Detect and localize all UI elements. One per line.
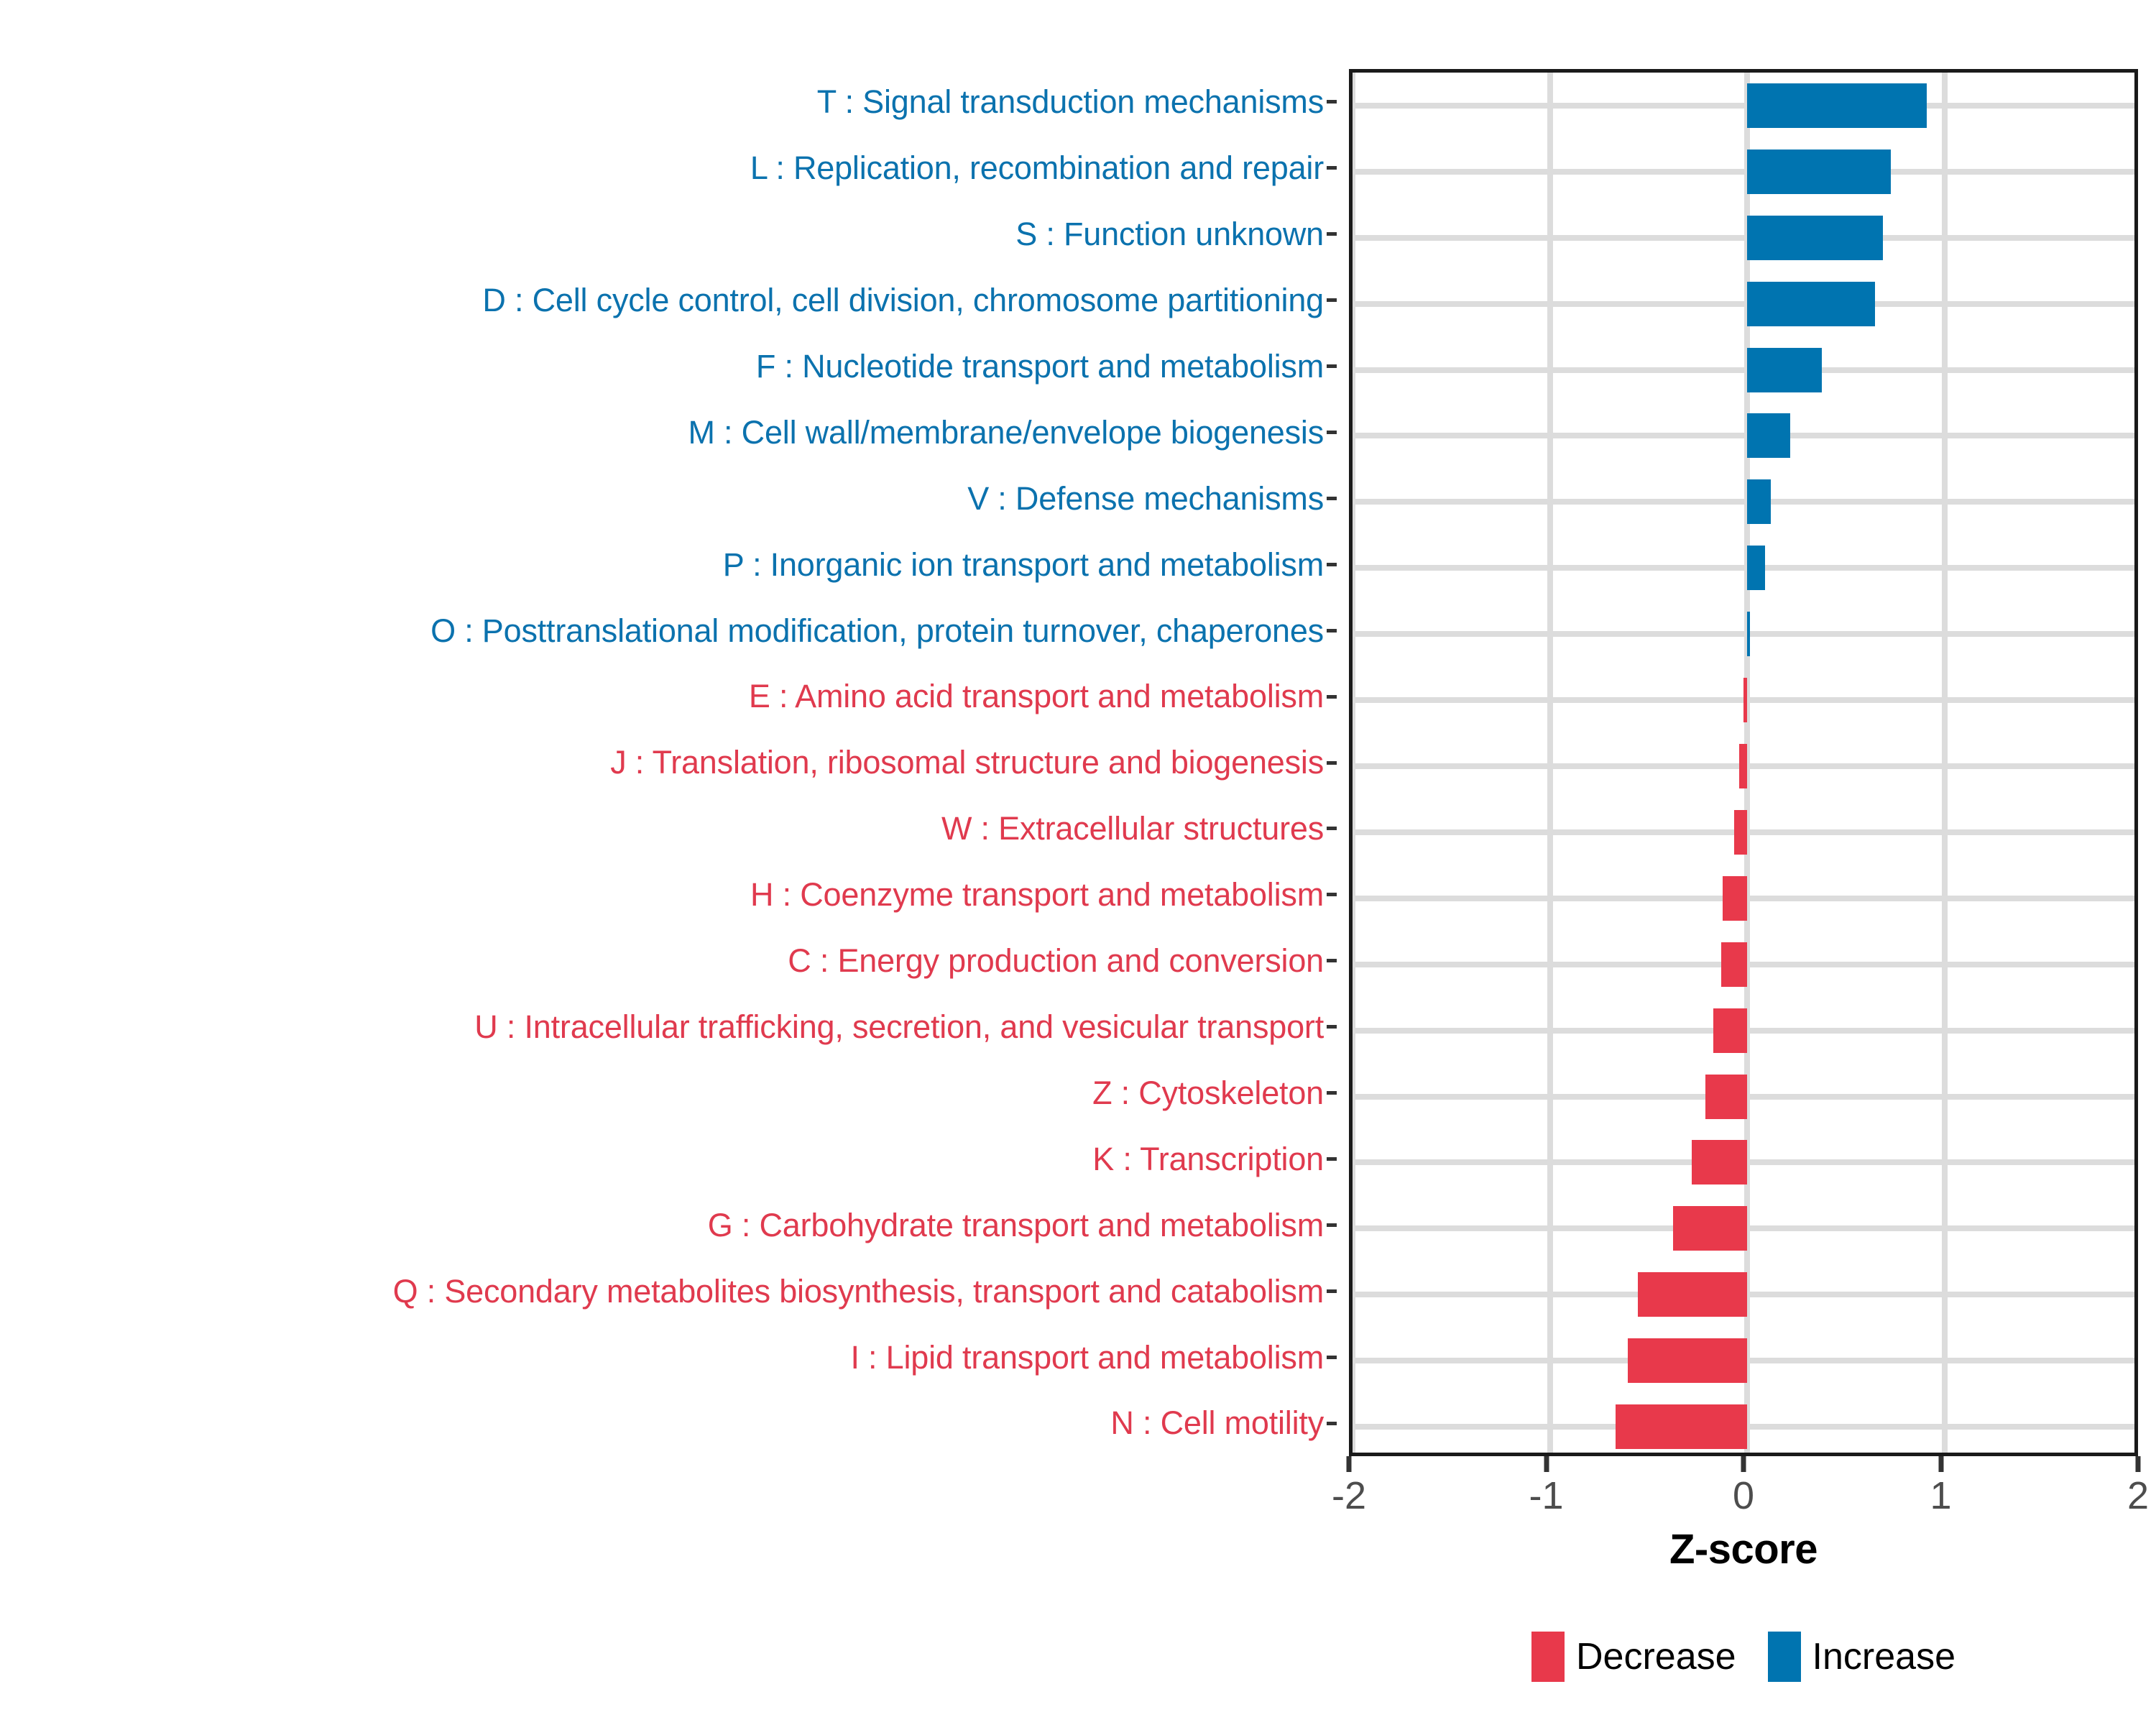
horizontal-gridline <box>1353 103 2134 109</box>
bar-increase <box>1747 282 1875 326</box>
category-label-row: S : Function unknown <box>0 201 1337 267</box>
legend-swatch-decrease <box>1531 1632 1565 1682</box>
horizontal-gridline <box>1353 499 2134 505</box>
category-tick-mark <box>1327 166 1337 170</box>
category-label: Q : Secondary metabolites biosynthesis, … <box>393 1274 1324 1308</box>
x-axis-tick-label: -1 <box>1529 1473 1563 1518</box>
category-label: T : Signal transduction mechanisms <box>817 85 1324 119</box>
horizontal-gridline <box>1353 235 2134 241</box>
category-label-row: H : Coenzyme transport and metabolism <box>0 862 1337 928</box>
category-label: D : Cell cycle control, cell division, c… <box>482 283 1324 317</box>
category-label: K : Transcription <box>1092 1142 1324 1176</box>
legend-label: Decrease <box>1576 1635 1736 1678</box>
category-label-row: T : Signal transduction mechanisms <box>0 69 1337 135</box>
category-tick-mark <box>1327 1356 1337 1359</box>
legend-entry[interactable]: Decrease <box>1531 1632 1736 1682</box>
x-axis-tick-mark <box>2136 1456 2141 1472</box>
bar-decrease <box>1723 876 1747 921</box>
category-tick-mark <box>1327 100 1337 103</box>
legend-swatch-increase <box>1768 1632 1801 1682</box>
bar-increase <box>1747 546 1765 590</box>
category-label: O : Posttranslational modification, prot… <box>430 614 1324 648</box>
category-label: P : Inorganic ion transport and metaboli… <box>723 548 1324 581</box>
category-tick-mark <box>1327 827 1337 830</box>
category-tick-mark <box>1327 1091 1337 1095</box>
bar-decrease <box>1616 1404 1747 1449</box>
category-label: Z : Cytoskeleton <box>1092 1076 1324 1110</box>
category-label-row: L : Replication, recombination and repai… <box>0 135 1337 201</box>
category-label-row: O : Posttranslational modification, prot… <box>0 597 1337 663</box>
x-axis-tick-label: 1 <box>1930 1473 1951 1518</box>
category-tick-mark <box>1327 761 1337 765</box>
category-label-row: V : Defense mechanisms <box>0 465 1337 531</box>
category-label: S : Function unknown <box>1015 217 1324 251</box>
bar-decrease <box>1638 1272 1747 1317</box>
category-label: H : Coenzyme transport and metabolism <box>750 878 1324 911</box>
bar-decrease <box>1692 1140 1747 1184</box>
category-label-row: G : Carbohydrate transport and metabolis… <box>0 1192 1337 1258</box>
category-label-row: I : Lipid transport and metabolism <box>0 1324 1337 1390</box>
bar-decrease <box>1739 744 1747 788</box>
bar-decrease <box>1713 1008 1747 1053</box>
category-label-row: E : Amino acid transport and metabolism <box>0 663 1337 730</box>
category-label: N : Cell motility <box>1110 1406 1324 1440</box>
legend: DecreaseIncrease <box>1349 1632 2138 1682</box>
x-axis-tick-mark <box>1741 1456 1746 1472</box>
horizontal-gridline <box>1353 169 2134 175</box>
category-tick-mark <box>1327 893 1337 896</box>
plot-panel <box>1349 69 2138 1456</box>
horizontal-gridline <box>1353 565 2134 571</box>
category-label-row: P : Inorganic ion transport and metaboli… <box>0 531 1337 597</box>
category-label-row: M : Cell wall/membrane/envelope biogenes… <box>0 400 1337 466</box>
category-tick-mark <box>1327 1157 1337 1161</box>
category-tick-mark <box>1327 1223 1337 1227</box>
vertical-gridline <box>1350 73 1355 1453</box>
bar-increase <box>1747 348 1822 392</box>
category-label: L : Replication, recombination and repai… <box>750 151 1324 185</box>
category-label: W : Extracellular structures <box>941 811 1324 845</box>
category-label: J : Translation, ribosomal structure and… <box>610 745 1324 779</box>
cog-z-score-bar-chart: T : Signal transduction mechanismsL : Re… <box>0 0 2156 1725</box>
category-label-row: K : Transcription <box>0 1126 1337 1192</box>
category-tick-mark <box>1327 1289 1337 1293</box>
category-label: G : Carbohydrate transport and metabolis… <box>708 1208 1324 1242</box>
category-label-row: C : Energy production and conversion <box>0 928 1337 994</box>
horizontal-gridline <box>1353 433 2134 438</box>
x-axis-tick-labels: -2-1012 <box>1349 1473 2138 1524</box>
x-axis-tick-mark <box>1938 1456 1943 1472</box>
bar-decrease <box>1721 942 1747 987</box>
horizontal-gridline <box>1353 367 2134 373</box>
vertical-gridline <box>1942 73 1948 1453</box>
category-label-row: Q : Secondary metabolites biosynthesis, … <box>0 1258 1337 1324</box>
category-tick-mark <box>1327 298 1337 302</box>
category-label-row: Z : Cytoskeleton <box>0 1060 1337 1126</box>
category-label: F : Nucleotide transport and metabolism <box>756 349 1324 383</box>
x-axis-tick-label: -2 <box>1332 1473 1366 1518</box>
bar-increase <box>1747 612 1750 656</box>
category-axis-labels: T : Signal transduction mechanismsL : Re… <box>0 69 1337 1456</box>
category-label-row: J : Translation, ribosomal structure and… <box>0 730 1337 796</box>
x-axis-tick-label: 2 <box>2127 1473 2149 1518</box>
bar-increase <box>1747 83 1927 128</box>
horizontal-gridline <box>1353 301 2134 307</box>
bar-decrease <box>1628 1338 1747 1383</box>
category-tick-mark <box>1327 695 1337 699</box>
bar-increase <box>1747 149 1891 194</box>
category-tick-mark <box>1327 364 1337 368</box>
bar-increase <box>1747 216 1883 260</box>
vertical-gridline <box>1547 73 1553 1453</box>
category-tick-mark <box>1327 629 1337 632</box>
legend-entry[interactable]: Increase <box>1768 1632 1955 1682</box>
category-tick-mark <box>1327 959 1337 962</box>
bar-decrease <box>1705 1075 1747 1119</box>
x-axis-tick-marks <box>1349 1456 2138 1473</box>
category-label: I : Lipid transport and metabolism <box>850 1340 1324 1374</box>
bar-decrease <box>1743 678 1747 722</box>
x-axis-tick-mark <box>1544 1456 1549 1472</box>
category-label: U : Intracellular trafficking, secretion… <box>474 1010 1324 1044</box>
category-tick-mark <box>1327 1422 1337 1425</box>
category-tick-mark <box>1327 1025 1337 1029</box>
bar-decrease <box>1673 1206 1747 1251</box>
legend-label: Increase <box>1812 1635 1955 1678</box>
x-axis-tick-mark <box>1347 1456 1352 1472</box>
x-axis-tick-label: 0 <box>1733 1473 1754 1518</box>
category-tick-mark <box>1327 497 1337 500</box>
category-label-row: F : Nucleotide transport and metabolism <box>0 333 1337 400</box>
category-tick-mark <box>1327 431 1337 434</box>
bar-increase <box>1747 413 1790 458</box>
category-label-row: W : Extracellular structures <box>0 796 1337 862</box>
category-label-row: N : Cell motility <box>0 1390 1337 1456</box>
category-label-row: U : Intracellular trafficking, secretion… <box>0 994 1337 1060</box>
category-label: M : Cell wall/membrane/envelope biogenes… <box>688 415 1324 449</box>
category-tick-mark <box>1327 232 1337 236</box>
category-label: C : Energy production and conversion <box>788 944 1324 977</box>
category-label: E : Amino acid transport and metabolism <box>749 679 1324 713</box>
bar-decrease <box>1734 810 1747 855</box>
horizontal-gridline <box>1353 631 2134 637</box>
x-axis-title: Z-score <box>1349 1525 2138 1573</box>
category-label-row: D : Cell cycle control, cell division, c… <box>0 267 1337 333</box>
category-label: V : Defense mechanisms <box>967 482 1324 515</box>
category-tick-mark <box>1327 563 1337 566</box>
bar-increase <box>1747 479 1771 524</box>
